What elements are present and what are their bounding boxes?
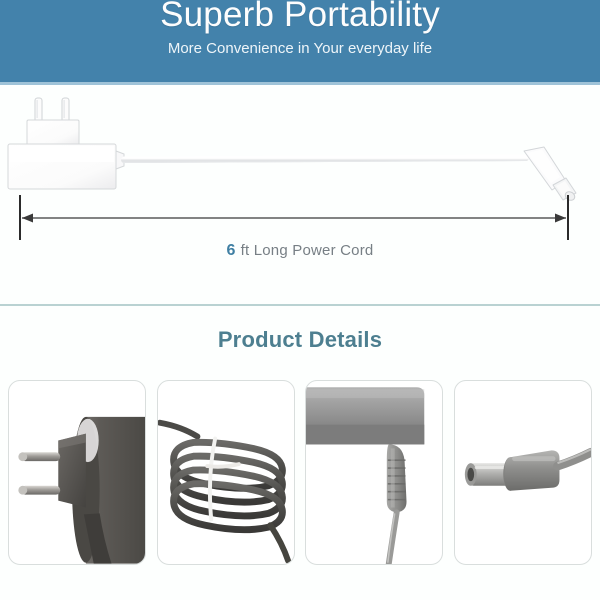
plug-pin-upper: [18, 452, 60, 461]
cord-length-unit-label: ft Long Power Cord: [241, 242, 374, 259]
strain-relief-boot: [387, 444, 407, 512]
cable-tie: [207, 439, 239, 520]
header-text-block: Superb Portability More Convenience in Y…: [0, 0, 600, 59]
detail-box-adapter-strain-relief[interactable]: [305, 380, 443, 565]
power-cord: [124, 158, 526, 160]
cord-length-caption: 6ft Long Power Cord: [0, 242, 600, 260]
page-title: Superb Portability: [0, 0, 600, 36]
cord-length-value: 6: [227, 242, 236, 259]
detail-box-dc-barrel-tip[interactable]: [454, 380, 592, 565]
adapter-neck: [27, 120, 79, 145]
product-details-gallery: [8, 380, 592, 570]
page-header: Superb Portability More Convenience in Y…: [0, 0, 600, 82]
detail-box-eu-plug-prongs[interactable]: [8, 380, 146, 565]
hero-illustration: [0, 85, 600, 300]
page-subtitle: More Convenience in Your everyday life: [0, 39, 600, 59]
section-divider: [0, 304, 600, 306]
detail-box-coiled-cable[interactable]: [157, 380, 295, 565]
plug-pin-lower: [18, 486, 60, 495]
dimension-line: [20, 195, 568, 240]
product-infographic-page: Superb Portability More Convenience in Y…: [0, 0, 600, 600]
cable-loops: [173, 442, 282, 529]
dc-connector: [524, 147, 576, 202]
product-details-heading: Product Details: [0, 327, 600, 353]
